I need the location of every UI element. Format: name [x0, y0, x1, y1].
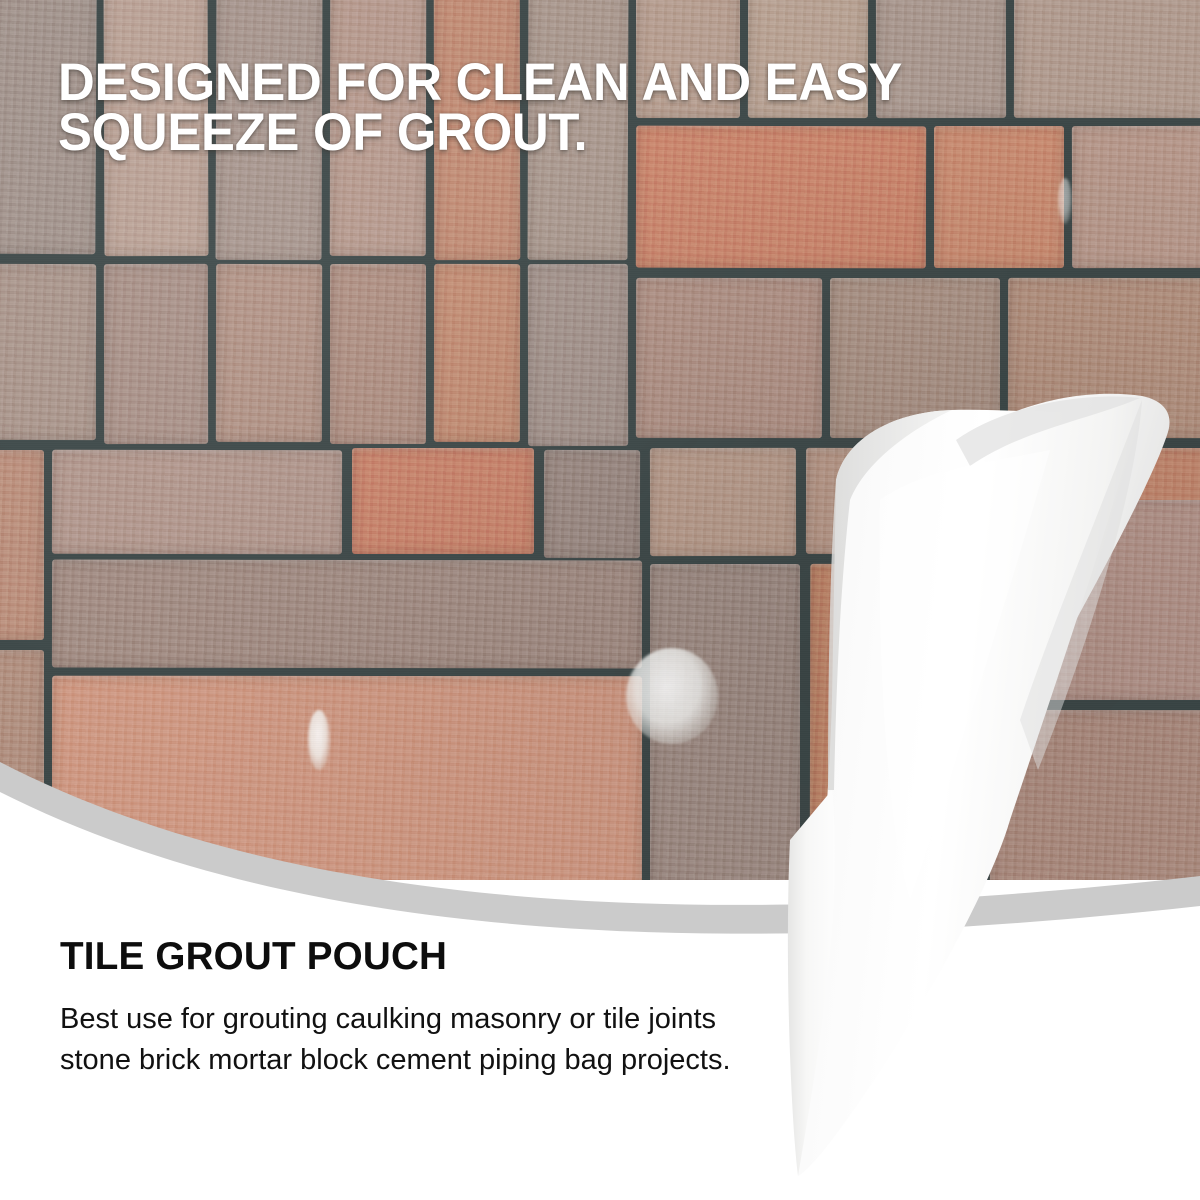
- brick: [104, 264, 208, 444]
- headline: DESIGNED FOR CLEAN AND EASY SQUEEZE OF G…: [58, 58, 1076, 158]
- grout-pouch-graphic: [770, 370, 1200, 1200]
- brick: [52, 450, 342, 555]
- product-copy-block: TILE GROUT POUCH Best use for grouting c…: [60, 935, 760, 1081]
- headline-line-2: SQUEEZE OF GROUT.: [58, 108, 1076, 158]
- headline-line-1: DESIGNED FOR CLEAN AND EASY: [58, 58, 1076, 108]
- product-description: Best use for grouting caulking masonry o…: [60, 999, 760, 1081]
- brick: [528, 264, 628, 446]
- brick: [1072, 126, 1200, 268]
- brick: [544, 450, 640, 558]
- brick: [216, 264, 322, 442]
- brick: [0, 264, 96, 440]
- brick: [52, 559, 642, 668]
- brick: [0, 450, 44, 640]
- brick: [434, 264, 520, 442]
- brick: [330, 264, 426, 444]
- product-marketing-image: DESIGNED FOR CLEAN AND EASY SQUEEZE OF G…: [0, 0, 1200, 1200]
- product-title: TILE GROUT POUCH: [60, 935, 753, 979]
- brick: [352, 448, 534, 554]
